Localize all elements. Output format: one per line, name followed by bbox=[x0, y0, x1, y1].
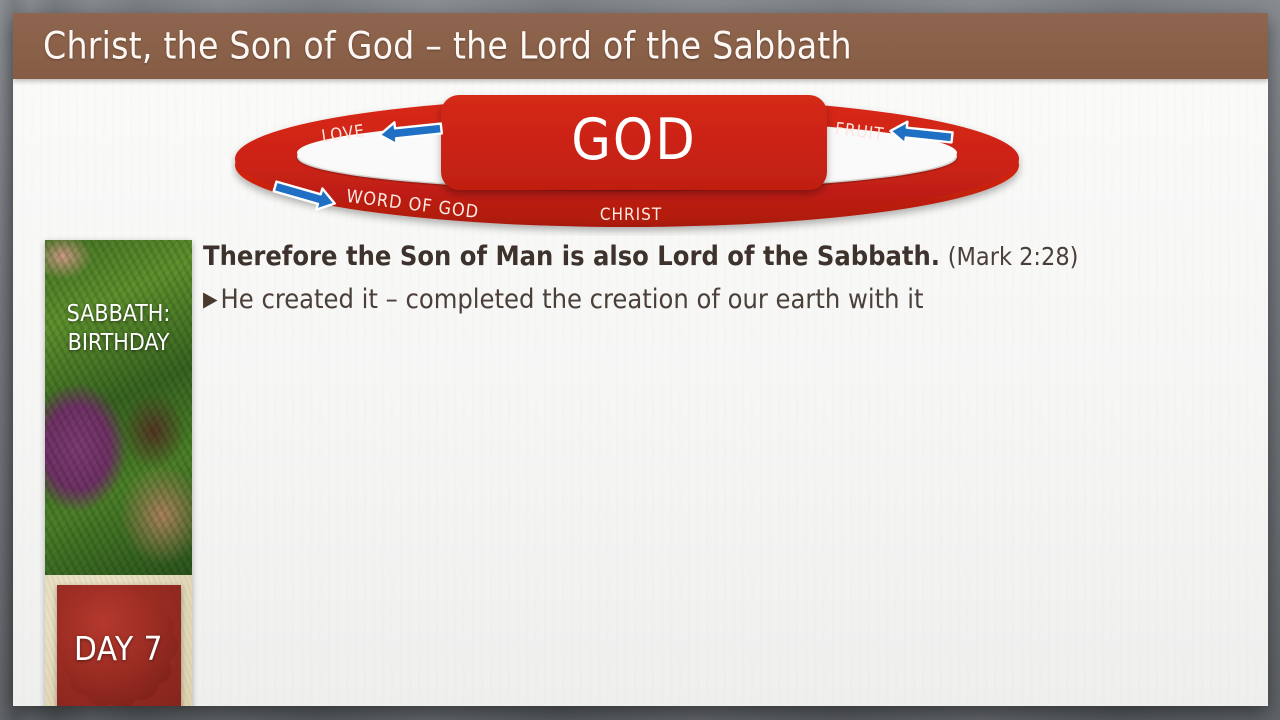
ring-label-christ: CHRIST bbox=[600, 205, 662, 225]
triangle-bullet-icon: ▶ bbox=[203, 289, 218, 310]
god-box: GOD bbox=[441, 95, 827, 190]
verse-text: Therefore the Son of Man is also Lord of… bbox=[203, 241, 940, 272]
picture-caption: SABBATH: BIRTHDAY bbox=[45, 300, 192, 358]
slide-body: Therefore the Son of Man is also Lord of… bbox=[203, 241, 1233, 315]
cycle-diagram: GOD LOVE FRUIT WORD OF GOD CHRIST bbox=[231, 91, 1051, 236]
garden-photo bbox=[45, 240, 192, 575]
god-box-label: GOD bbox=[571, 107, 697, 173]
sabbath-picture-strip: SABBATH: BIRTHDAY DAY 7 bbox=[45, 240, 192, 706]
presentation-slide: Christ, the Son of God – the Lord of the… bbox=[13, 13, 1268, 706]
slide-title-bar: Christ, the Son of God – the Lord of the… bbox=[13, 13, 1268, 79]
slide-title: Christ, the Son of God – the Lord of the… bbox=[43, 25, 852, 68]
day-seven-panel: DAY 7 bbox=[45, 575, 192, 706]
bullet-text: He created it – completed the creation o… bbox=[221, 284, 924, 315]
picture-caption-line-1: SABBATH: bbox=[45, 300, 192, 329]
verse-line: Therefore the Son of Man is also Lord of… bbox=[203, 241, 1233, 272]
picture-caption-line-2: BIRTHDAY bbox=[45, 329, 192, 358]
bullet-item: ▶ He created it – completed the creation… bbox=[203, 284, 1233, 315]
day-label: DAY 7 bbox=[45, 575, 192, 706]
verse-reference: (Mark 2:28) bbox=[948, 242, 1079, 271]
slide-stage: Christ, the Son of God – the Lord of the… bbox=[0, 0, 1280, 720]
